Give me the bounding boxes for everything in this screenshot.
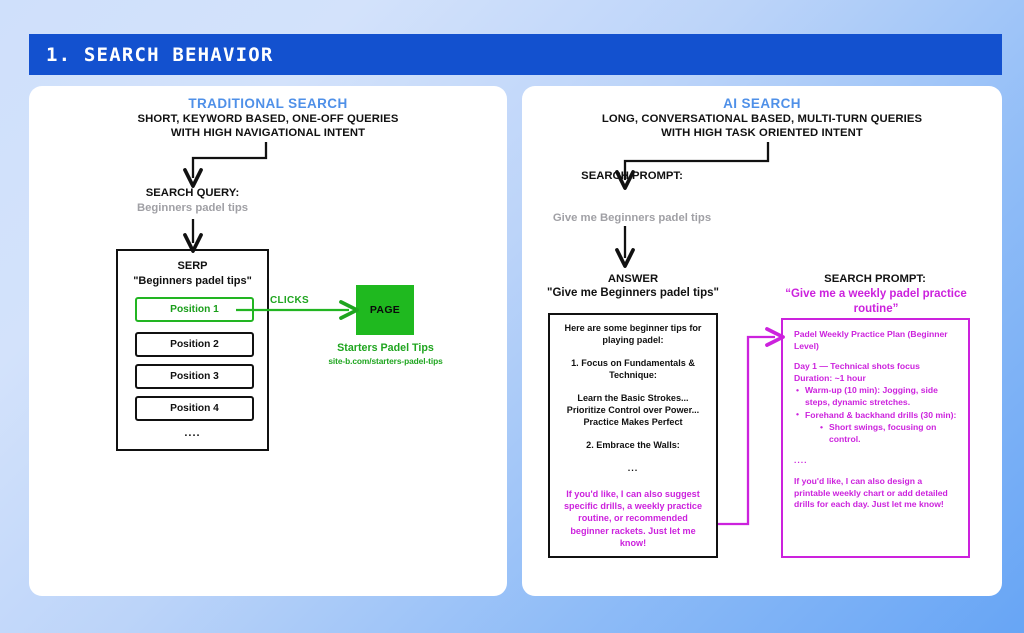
plan-ellipsis: .... <box>794 455 959 467</box>
serp-result-position-1[interactable]: Position 1 <box>135 297 254 322</box>
serp-more-results-ellipsis: .... <box>118 427 267 439</box>
ai-search-subtitle-line2: WITH HIGH TASK ORIENTED INTENT <box>522 126 1002 141</box>
serp-result-label: Position 2 <box>170 339 219 350</box>
answer-ellipsis: ... <box>558 462 708 474</box>
serp-result-label: Position 4 <box>170 403 219 414</box>
weekly-practice-plan-box: Padel Weekly Practice Plan (Beginner Lev… <box>781 318 970 558</box>
plan-bullet-text: Warm-up (10 min): Jogging, side steps, d… <box>805 385 938 407</box>
plan-bullet: Forehand & backhand drills (30 min): Sho… <box>794 410 959 446</box>
answer-intro: Here are some beginner tips for playing … <box>558 322 708 347</box>
plan-sub-bullet-list: Short swings, focusing on control. <box>818 422 959 445</box>
serp-result-position-3[interactable]: Position 3 <box>135 364 254 389</box>
traditional-search-title: TRADITIONAL SEARCH <box>29 96 507 111</box>
clicks-label: CLICKS <box>270 295 309 306</box>
plan-bullet-text: Forehand & backhand drills (30 min): <box>805 410 956 420</box>
ai-search-prompt-value: Give me Beginners padel tips <box>542 212 722 224</box>
plan-duration-line: Duration: ~1 hour <box>794 373 959 385</box>
ai-search-prompt-label: SEARCH PROMPT: <box>552 170 712 182</box>
serp-result-position-4[interactable]: Position 4 <box>135 396 254 421</box>
plan-bullet: Warm-up (10 min): Jogging, side steps, d… <box>794 385 959 408</box>
answer-followup-offer: If you'd like, I can also suggest specif… <box>558 488 708 550</box>
serp-box: SERP "Beginners padel tips" Position 1 P… <box>116 249 269 451</box>
answer-label: ANSWER <box>553 273 713 285</box>
serp-result-label: Position 1 <box>170 304 219 315</box>
page-title: 1. SEARCH BEHAVIOR <box>46 44 274 66</box>
landing-page-url: site-b.com/starters-padel-tips <box>303 356 468 366</box>
answer-item1-body: Learn the Basic Strokes... Prioritize Co… <box>558 392 708 429</box>
traditional-search-subtitle-line2: WITH HIGH NAVIGATIONAL INTENT <box>29 126 507 141</box>
plan-sub-bullet: Short swings, focusing on control. <box>818 422 959 445</box>
ai-answer-box: Here are some beginner tips for playing … <box>548 313 718 558</box>
plan-heading: Padel Weekly Practice Plan (Beginner Lev… <box>794 329 959 352</box>
landing-page-label: PAGE <box>370 304 400 316</box>
plan-sub-bullet-text: Short swings, focusing on control. <box>829 422 936 444</box>
serp-title-text: SERP <box>178 260 208 272</box>
serp-result-position-2[interactable]: Position 2 <box>135 332 254 357</box>
section-header-bar: 1. SEARCH BEHAVIOR <box>29 34 1002 75</box>
answer-quoted-prompt: "Give me Beginners padel tips" <box>533 287 733 299</box>
serp-heading: SERP "Beginners padel tips" <box>118 259 267 289</box>
search-query-value: Beginners padel tips <box>116 202 269 214</box>
landing-page-name: Starters Padel Tips <box>308 342 463 354</box>
search-query-label: SEARCH QUERY: <box>116 187 269 199</box>
plan-followup-offer: If you'd like, I can also design a print… <box>794 476 959 511</box>
answer-item2-heading: 2. Embrace the Walls: <box>558 439 708 451</box>
ai-search-subtitle-line1: LONG, CONVERSATIONAL BASED, MULTI-TURN Q… <box>522 112 1002 127</box>
serp-result-label: Position 3 <box>170 371 219 382</box>
serp-query-quoted: "Beginners padel tips" <box>133 275 252 287</box>
traditional-search-subtitle-line1: SHORT, KEYWORD BASED, ONE-OFF QUERIES <box>29 112 507 127</box>
ai-search-title: AI SEARCH <box>522 96 1002 111</box>
ai-search-prompt2-value: “Give me a weekly padel practice routine… <box>776 287 976 317</box>
ai-search-prompt2-label: SEARCH PROMPT: <box>795 273 955 285</box>
plan-day-line: Day 1 — Technical shots focus <box>794 361 959 373</box>
landing-page-box[interactable]: PAGE <box>356 285 414 335</box>
answer-item1-heading: 1. Focus on Fundamentals & Technique: <box>558 357 708 382</box>
plan-bullet-list: Warm-up (10 min): Jogging, side steps, d… <box>794 385 959 445</box>
